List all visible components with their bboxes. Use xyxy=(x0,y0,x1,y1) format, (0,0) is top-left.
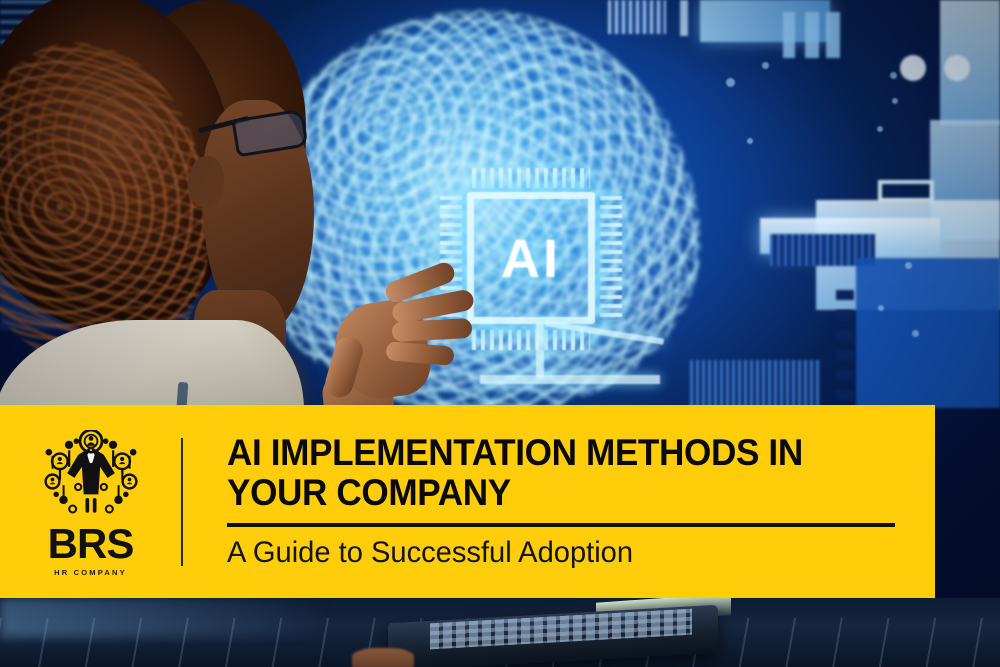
circuit-panel xyxy=(878,180,934,202)
circuit-panel xyxy=(826,12,840,58)
vertical-divider xyxy=(181,438,183,566)
circuit-node-icon xyxy=(900,55,926,81)
ai-chip-label: AI xyxy=(467,228,595,290)
circuit-panel xyxy=(805,12,819,58)
circuit-panel xyxy=(690,360,820,408)
circuit-panel xyxy=(783,12,795,58)
circuit-panel xyxy=(608,0,666,34)
circuit-panel xyxy=(856,258,1000,408)
subheadline: A Guide to Successful Adoption xyxy=(227,536,875,570)
circuit-dot xyxy=(890,72,897,79)
chip-pins xyxy=(472,168,590,188)
circuit-trace xyxy=(480,375,660,384)
circuit-panel xyxy=(680,0,688,36)
circuit-dot xyxy=(726,78,735,87)
circuit-dot xyxy=(905,262,912,269)
ear xyxy=(188,156,224,208)
promo-banner: AI xyxy=(0,0,1000,667)
circuit-node-icon xyxy=(944,55,970,81)
chip-pins xyxy=(472,330,590,350)
finger xyxy=(392,318,473,342)
title-band: BRS HR COMPANY AI IMPLEMENTATION METHODS… xyxy=(0,405,935,598)
brand-logo: BRS HR COMPANY xyxy=(0,405,181,598)
circuit-dot xyxy=(892,98,898,104)
brand-name: BRS xyxy=(48,523,134,565)
circuit-trace xyxy=(536,322,544,378)
circuit-panel xyxy=(836,290,854,410)
horizontal-rule xyxy=(227,523,895,527)
suit-tie-people-network-icon xyxy=(36,430,146,522)
circuit-dot xyxy=(747,138,753,144)
brand-tagline: HR COMPANY xyxy=(54,568,127,577)
circuit-dot xyxy=(878,305,884,311)
headline: AI IMPLEMENTATION METHODS IN YOUR COMPAN… xyxy=(227,433,854,513)
circuit-dot xyxy=(877,126,883,132)
title-text-column: AI IMPLEMENTATION METHODS IN YOUR COMPAN… xyxy=(183,433,935,571)
circuit-dot xyxy=(762,62,769,69)
hand-on-laptop xyxy=(352,648,414,667)
circuit-dot xyxy=(912,330,919,337)
chip-pins xyxy=(600,196,622,320)
